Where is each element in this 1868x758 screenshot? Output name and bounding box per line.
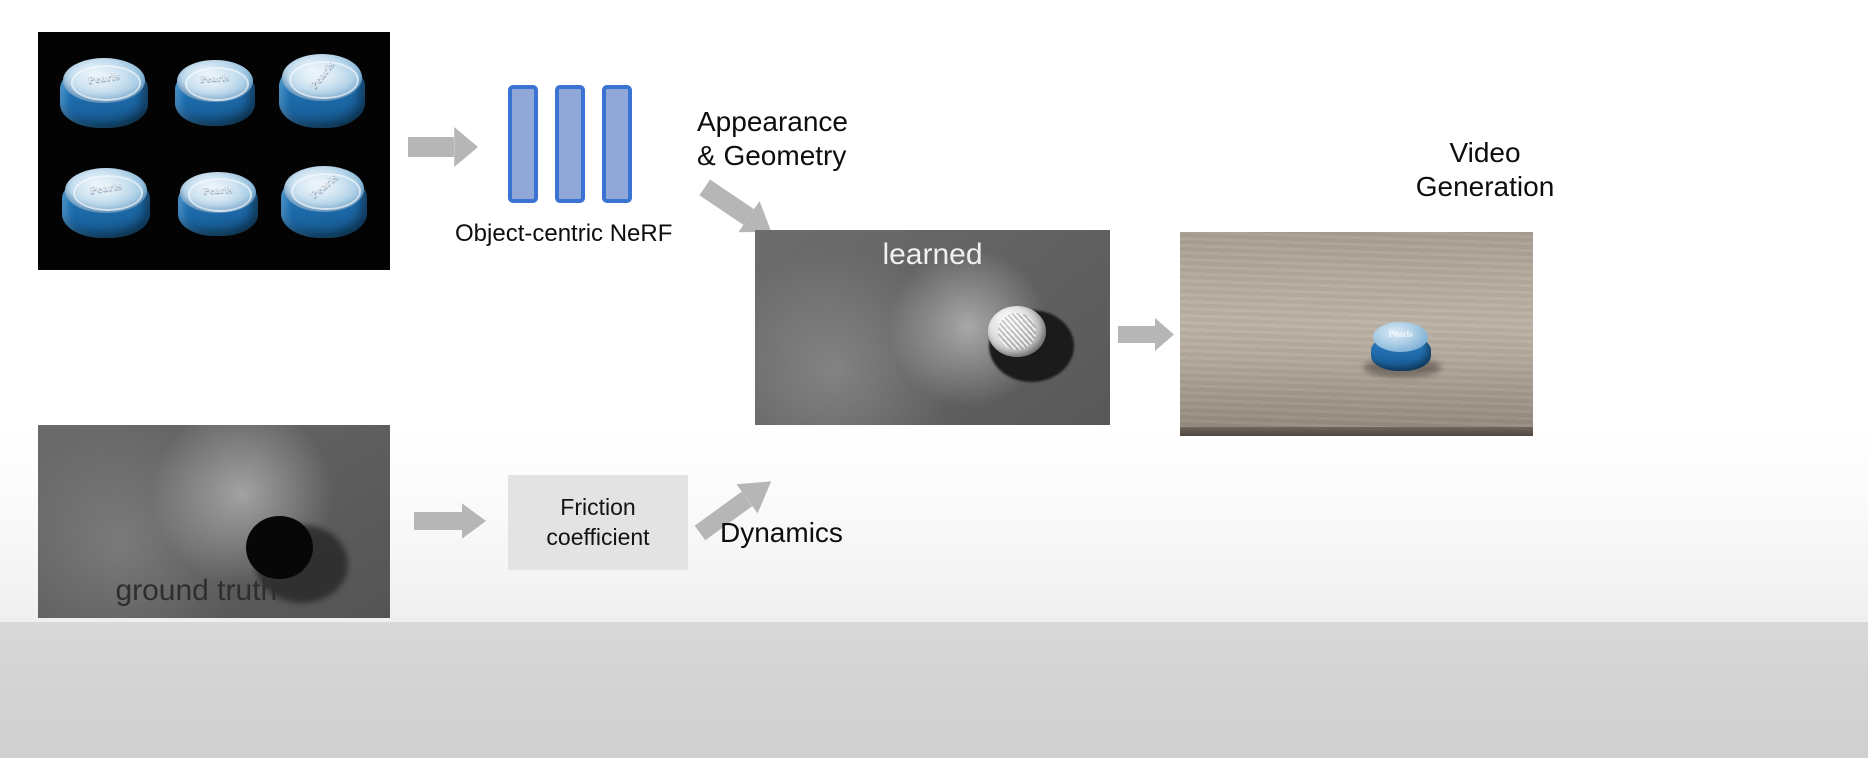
multiview-capture-panel: Pearls Pearls Pearls Pearls Pearls xyxy=(38,32,390,270)
arrow-learned-to-video xyxy=(1118,318,1174,351)
arrow-shaft xyxy=(700,179,754,224)
puck-thumbnail: Pearls xyxy=(62,168,150,238)
arrow-shaft xyxy=(1118,326,1155,343)
nerf-layer-block xyxy=(508,85,538,203)
friction-coefficient-label: Friction coefficient xyxy=(546,493,649,553)
arrow-shaft xyxy=(408,137,454,157)
dynamics-label: Dynamics xyxy=(720,516,843,550)
ground-truth-overlay-label: ground truth xyxy=(115,574,277,608)
puck-thumbnail: Pearls xyxy=(178,172,258,236)
ground-truth-object xyxy=(246,516,313,580)
video-puck: Pearls xyxy=(1371,322,1431,371)
background-gradient-band-lower xyxy=(0,622,1868,758)
appearance-geometry-label: Appearance & Geometry xyxy=(697,105,848,173)
wood-grain-texture xyxy=(1180,232,1533,436)
puck-thumbnail: Pearls xyxy=(281,166,367,238)
nerf-layer-block xyxy=(602,85,632,203)
nerf-layer-block xyxy=(555,85,585,203)
figure-canvas: Pearls Pearls Pearls Pearls Pearls xyxy=(0,0,1868,758)
arrow-head xyxy=(1155,318,1174,351)
puck-brand-text: Pearls xyxy=(1371,329,1431,339)
puck-rim xyxy=(185,67,250,101)
arrow-head xyxy=(454,127,478,167)
video-generation-panel: Pearls xyxy=(1180,232,1533,436)
learned-overlay-label: learned xyxy=(882,238,982,272)
arrow-multiview-to-nerf xyxy=(408,127,478,167)
ground-truth-panel: ground truth xyxy=(38,425,390,618)
puck-thumbnail: Pearls xyxy=(279,54,365,128)
puck-rim xyxy=(188,178,253,211)
puck-thumbnail: Pearls xyxy=(175,60,255,126)
video-generation-label: Video Generation xyxy=(1416,136,1555,204)
friction-coefficient-box: Friction coefficient xyxy=(508,475,688,570)
table-edge xyxy=(1180,427,1533,436)
nerf-label: Object-centric NeRF xyxy=(455,219,672,248)
puck-thumbnail: Pearls xyxy=(60,58,148,128)
learned-object xyxy=(988,306,1047,357)
nerf-mlp-blocks xyxy=(508,85,643,203)
arrow-head xyxy=(462,503,486,539)
arrow-groundtruth-to-friction xyxy=(414,503,486,539)
puck-rim xyxy=(291,173,360,210)
arrow-shaft xyxy=(414,512,462,530)
puck-rim xyxy=(289,61,358,99)
learned-render-panel: learned xyxy=(755,230,1110,425)
